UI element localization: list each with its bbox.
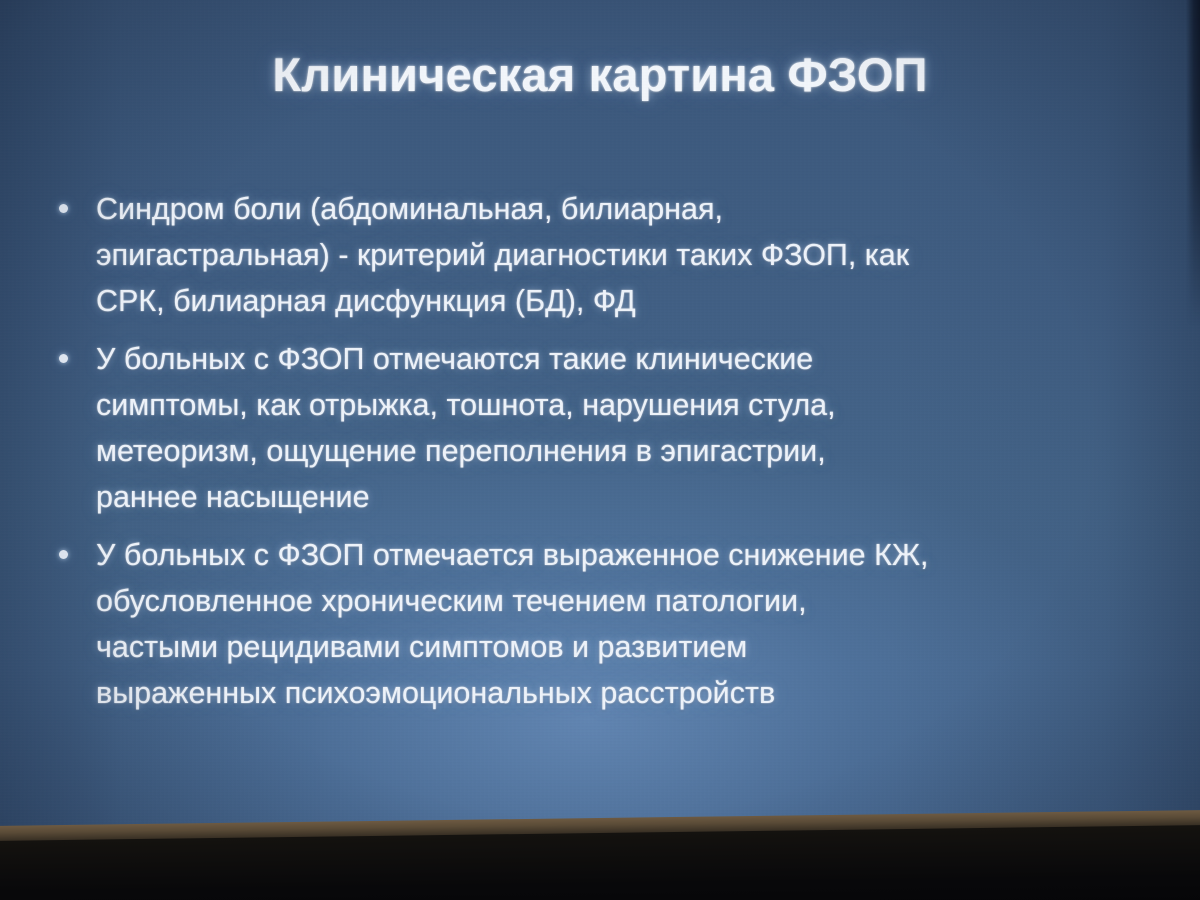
screen-bottom-bezel bbox=[0, 810, 1200, 900]
projected-slide-photo: Клиническая картина ФЗОП Синдром боли (а… bbox=[0, 0, 1200, 900]
photo-vignette-overlay bbox=[0, 0, 1200, 900]
screen-right-edge-shadow bbox=[1186, 0, 1200, 326]
